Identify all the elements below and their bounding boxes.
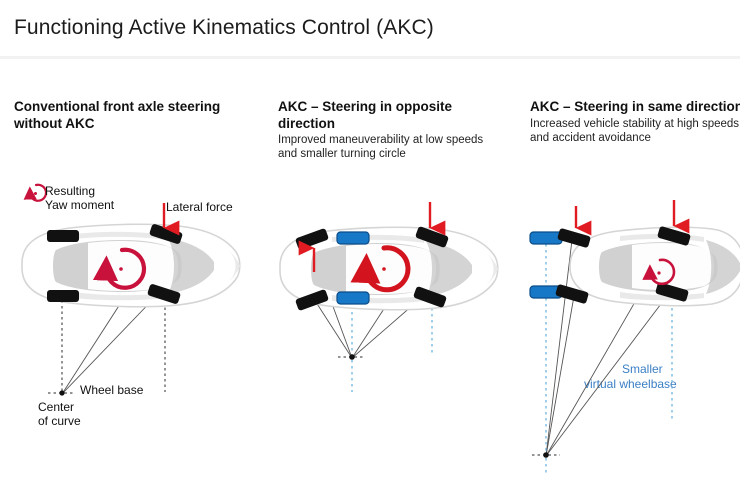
diagram-svg-opposite: [262, 0, 514, 479]
slide-root: Functioning Active Kinematics Control (A…: [0, 0, 740, 479]
diagram-opposite: [262, 0, 514, 479]
center-label-line1: Center: [38, 400, 74, 414]
panel-opposite-direction: AKC – Steering in opposite direction Imp…: [262, 0, 514, 479]
tire-rear-right: [47, 290, 79, 302]
center-of-curve-dot: [349, 354, 355, 360]
actuator-bar-rear: [337, 292, 369, 304]
car-top-view: [570, 227, 740, 305]
yaw-label-line1: Resulting: [45, 184, 95, 198]
center-of-curve-dot: [543, 452, 549, 458]
yaw-moment-legend-icon: [30, 185, 46, 201]
actuator-bar-front: [530, 232, 562, 244]
actuator-bar-front: [337, 232, 369, 244]
center-label-line2: of curve: [38, 414, 81, 428]
center-of-curve-dot: [59, 390, 64, 395]
tire-rear-left: [47, 230, 79, 242]
yaw-label-line2: Yaw moment: [45, 198, 114, 212]
label-wheel-base: Wheel base: [80, 383, 143, 397]
panel-same-direction: AKC – Steering in same direction Increas…: [514, 0, 740, 479]
label-lateral-force: Lateral force: [166, 200, 233, 214]
diagram-same: [514, 0, 740, 479]
label-yaw-moment: Resulting Yaw moment: [45, 184, 114, 212]
diagram-svg-same: [514, 0, 740, 479]
label-center-of-curve: Center of curve: [38, 400, 81, 428]
tire-rear-left: [557, 228, 591, 248]
panel-conventional: Conventional front axle steering without…: [0, 0, 262, 479]
